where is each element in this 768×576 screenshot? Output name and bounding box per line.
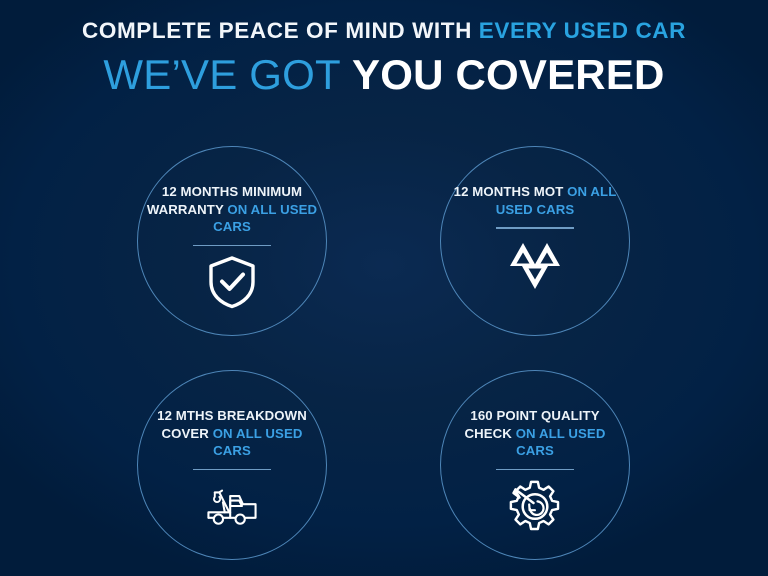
divider	[496, 227, 574, 229]
tow-truck-icon	[203, 477, 261, 535]
shield-check-icon	[203, 253, 261, 311]
divider	[193, 245, 271, 247]
feature-circle-warranty: 12 MONTHS MINIMUM WARRANTY ON ALL USED C…	[137, 146, 327, 336]
feature-label-quality-check: 160 POINT QUALITY CHECK ON ALL USED CARS	[446, 407, 624, 460]
feature-circle-mot: 12 MONTHS MOT ON ALL USED CARS	[440, 146, 630, 336]
feature-label-mot: 12 MONTHS MOT ON ALL USED CARS	[446, 183, 624, 218]
headline-line-2-white: YOU COVERED	[352, 51, 665, 98]
headline-line-2-accent: WE’VE GOT	[103, 51, 352, 98]
headline-line-1-white: COMPLETE PEACE OF MIND WITH	[82, 18, 479, 43]
gear-wrench-icon	[506, 477, 564, 535]
feature-grid: 12 MONTHS MINIMUM WARRANTY ON ALL USED C…	[0, 144, 768, 564]
headline-line-2: WE’VE GOT YOU COVERED	[0, 54, 768, 96]
headline-line-1-accent: EVERY USED CAR	[479, 18, 686, 43]
feature-label-accent: ON ALL USED CARS	[213, 426, 303, 459]
feature-label-white: 12 MONTHS MOT	[454, 184, 568, 199]
feature-label-breakdown: 12 MTHS BREAKDOWN COVER ON ALL USED CARS	[143, 407, 321, 460]
promo-banner: COMPLETE PEACE OF MIND WITH EVERY USED C…	[0, 0, 768, 576]
mot-triangles-icon	[506, 236, 564, 294]
feature-label-accent: ON ALL USED CARS	[213, 202, 317, 235]
divider	[496, 469, 574, 471]
divider	[193, 469, 271, 471]
feature-circle-breakdown: 12 MTHS BREAKDOWN COVER ON ALL USED CARS	[137, 370, 327, 560]
feature-label-accent: ON ALL USED CARS	[516, 426, 606, 459]
feature-circle-quality-check: 160 POINT QUALITY CHECK ON ALL USED CARS	[440, 370, 630, 560]
feature-label-warranty: 12 MONTHS MINIMUM WARRANTY ON ALL USED C…	[143, 183, 321, 236]
headline-line-1: COMPLETE PEACE OF MIND WITH EVERY USED C…	[0, 20, 768, 43]
headline: COMPLETE PEACE OF MIND WITH EVERY USED C…	[0, 20, 768, 96]
